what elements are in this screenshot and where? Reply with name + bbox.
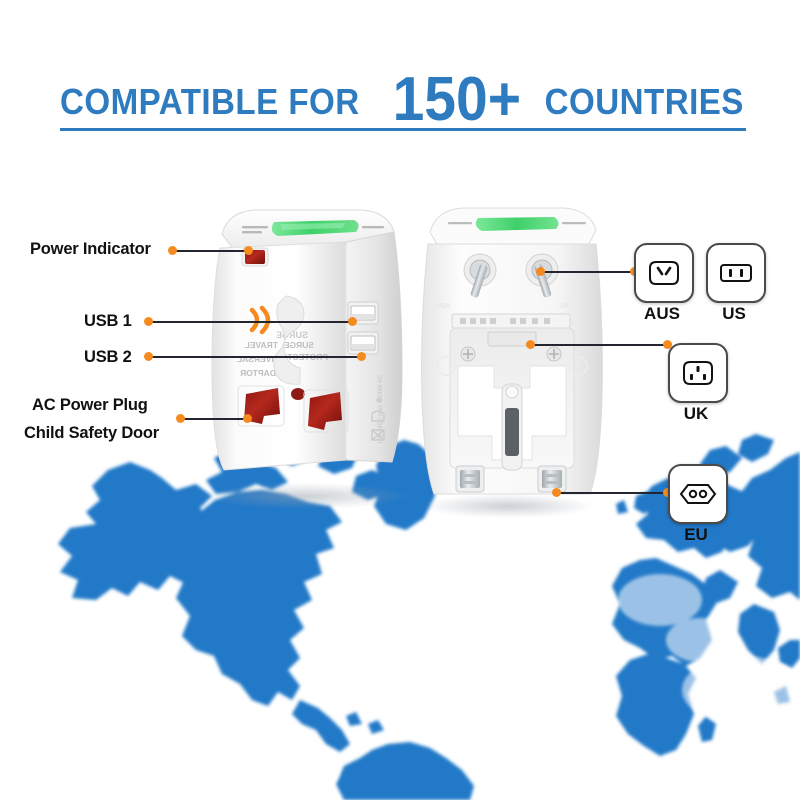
plug-type-tile-aus[interactable] <box>634 243 694 303</box>
page-title: COMPATIBLE FOR150+COUNTRIES <box>0 72 800 128</box>
leader-dot-ac-power-plug-label <box>176 414 185 423</box>
leader-dot-uk-target <box>526 340 535 349</box>
svg-text:TRAVEL: TRAVEL <box>245 340 278 350</box>
plug-type-tile-us[interactable] <box>706 243 766 303</box>
leader-dot-power-indicator-target <box>244 246 253 255</box>
adapter-front-view: SURGE SURGE PROTECTOR TRAVEL UNIVERSAL A… <box>186 198 436 508</box>
aus-socket-icon <box>645 259 683 287</box>
plug-type-tile-eu[interactable] <box>668 464 728 524</box>
title-part-1: COMPATIBLE FOR <box>60 81 360 123</box>
plug-type-caption-uk: UK <box>656 404 736 424</box>
leader-line-aus <box>540 271 636 273</box>
eu-socket-icon <box>678 482 718 506</box>
adapter-back-view: USA UK <box>412 198 612 518</box>
label-child-safety-door: Child Safety Door <box>24 424 159 443</box>
label-power-indicator: Power Indicator <box>30 240 151 259</box>
svg-text:UK: UK <box>560 303 570 310</box>
leader-line-eu <box>556 492 668 494</box>
label-usb-1: USB 1 <box>84 312 132 331</box>
title-part-2: COUNTRIES <box>545 81 744 123</box>
uk-socket-icon <box>679 359 717 387</box>
title-underline <box>60 128 746 131</box>
svg-text:USA: USA <box>436 303 451 310</box>
plug-type-tile-uk[interactable] <box>668 343 728 403</box>
plug-type-caption-us: US <box>694 304 774 324</box>
svg-text:SURGE: SURGE <box>283 340 314 350</box>
leader-dot-usb-1-label <box>144 317 153 326</box>
label-usb-2: USB 2 <box>84 348 132 367</box>
leader-line-power-indicator <box>172 250 250 252</box>
leader-dot-usb-2-target <box>357 352 366 361</box>
leader-dot-usb-2-label <box>144 352 153 361</box>
plug-type-caption-eu: EU <box>656 525 736 545</box>
product-infographic: COMPATIBLE FOR150+COUNTRIES <box>0 0 800 800</box>
us-socket-icon <box>717 260 755 286</box>
leader-line-usb-2 <box>148 356 362 358</box>
leader-line-ac-power-plug <box>180 418 248 420</box>
leader-dot-power-indicator-label <box>168 246 177 255</box>
plug-type-caption-aus: AUS <box>622 304 702 324</box>
leader-dot-usb-1-target <box>348 317 357 326</box>
leader-dot-aus-target <box>536 267 545 276</box>
leader-dot-ac-power-plug-target <box>243 414 252 423</box>
leader-dot-eu-target <box>552 488 561 497</box>
leader-line-usb-1 <box>148 321 353 323</box>
leader-line-uk <box>530 344 668 346</box>
label-ac-power-plug: AC Power Plug <box>32 396 148 415</box>
title-highlight: 150+ <box>392 72 520 128</box>
